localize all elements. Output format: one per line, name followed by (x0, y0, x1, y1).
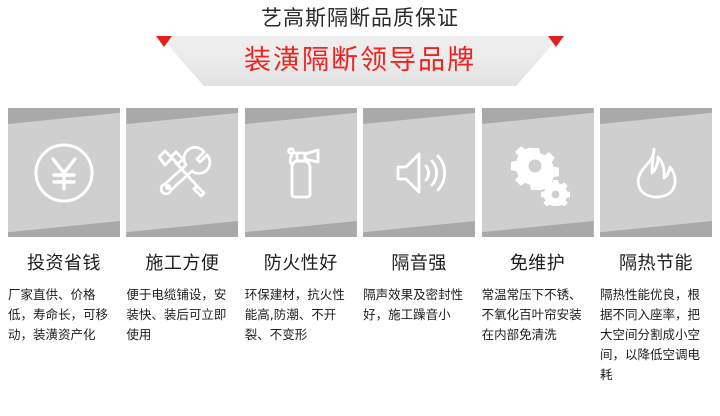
feature-item-construction: 施工方便 便于电缆铺设，安装快、装后可立即使用 (126, 108, 238, 408)
feature-description: 常温常压下不锈、不氧化百叶帘安装在内部免清洗 (482, 285, 594, 345)
feature-icon-tile (363, 108, 475, 237)
hammer-wrench-icon (126, 108, 238, 237)
feature-description: 便于电缆铺设，安装快、装后可立即使用 (126, 285, 238, 345)
promo-header: 艺高斯隔断品质保证 装潢隔断领导品牌 (0, 0, 720, 96)
banner: 装潢隔断领导品牌 (160, 36, 560, 86)
feature-item-soundproof: 隔音强 隔声效果及密封性好，施工躁音小 (363, 108, 475, 408)
feature-icon-tile (126, 108, 238, 237)
feature-icon-tile (245, 108, 357, 237)
fire-extinguisher-icon (245, 108, 357, 237)
flame-icon (600, 108, 712, 237)
feature-description: 厂家直供、价格低，寿命长，可移动，装潢资产化 (8, 285, 120, 345)
feature-icon-tile (8, 108, 120, 237)
feature-icon-tile (482, 108, 594, 237)
feature-description: 环保建材，抗火性能高,防潮、不开裂、不变形 (245, 285, 357, 345)
feature-item-insulation: 隔热节能 隔热性能优良，根据不同入座率，把大空间分割成小空间，以降低空调电耗 (600, 108, 712, 408)
feature-icon-tile (600, 108, 712, 237)
feature-item-fireproof: 防火性好 环保建材，抗火性能高,防潮、不开裂、不变形 (245, 108, 357, 408)
feature-title: 投资省钱 (27, 253, 101, 275)
feature-item-yen: 投资省钱 厂家直供、价格低，寿命长，可移动，装潢资产化 (8, 108, 120, 408)
feature-description: 隔热性能优良，根据不同入座率，把大空间分割成小空间，以降低空调电耗 (600, 285, 712, 385)
page-title: 艺高斯隔断品质保证 (0, 4, 720, 32)
feature-description: 隔声效果及密封性好，施工躁音小 (363, 285, 475, 325)
feature-item-maintenance-free: 免维护 常温常压下不锈、不氧化百叶帘安装在内部免清洗 (482, 108, 594, 408)
banner-headline: 装潢隔断领导品牌 (160, 36, 560, 86)
feature-title: 隔音强 (391, 253, 447, 275)
feature-title: 隔热节能 (619, 253, 693, 275)
yen-circle-icon (8, 108, 120, 237)
gears-icon (482, 108, 594, 237)
feature-title: 防火性好 (264, 253, 338, 275)
feature-title: 免维护 (510, 253, 566, 275)
feature-list: 投资省钱 厂家直供、价格低，寿命长，可移动，装潢资产化 (8, 108, 712, 408)
feature-title: 施工方便 (145, 253, 219, 275)
speaker-sound-icon (363, 108, 475, 237)
